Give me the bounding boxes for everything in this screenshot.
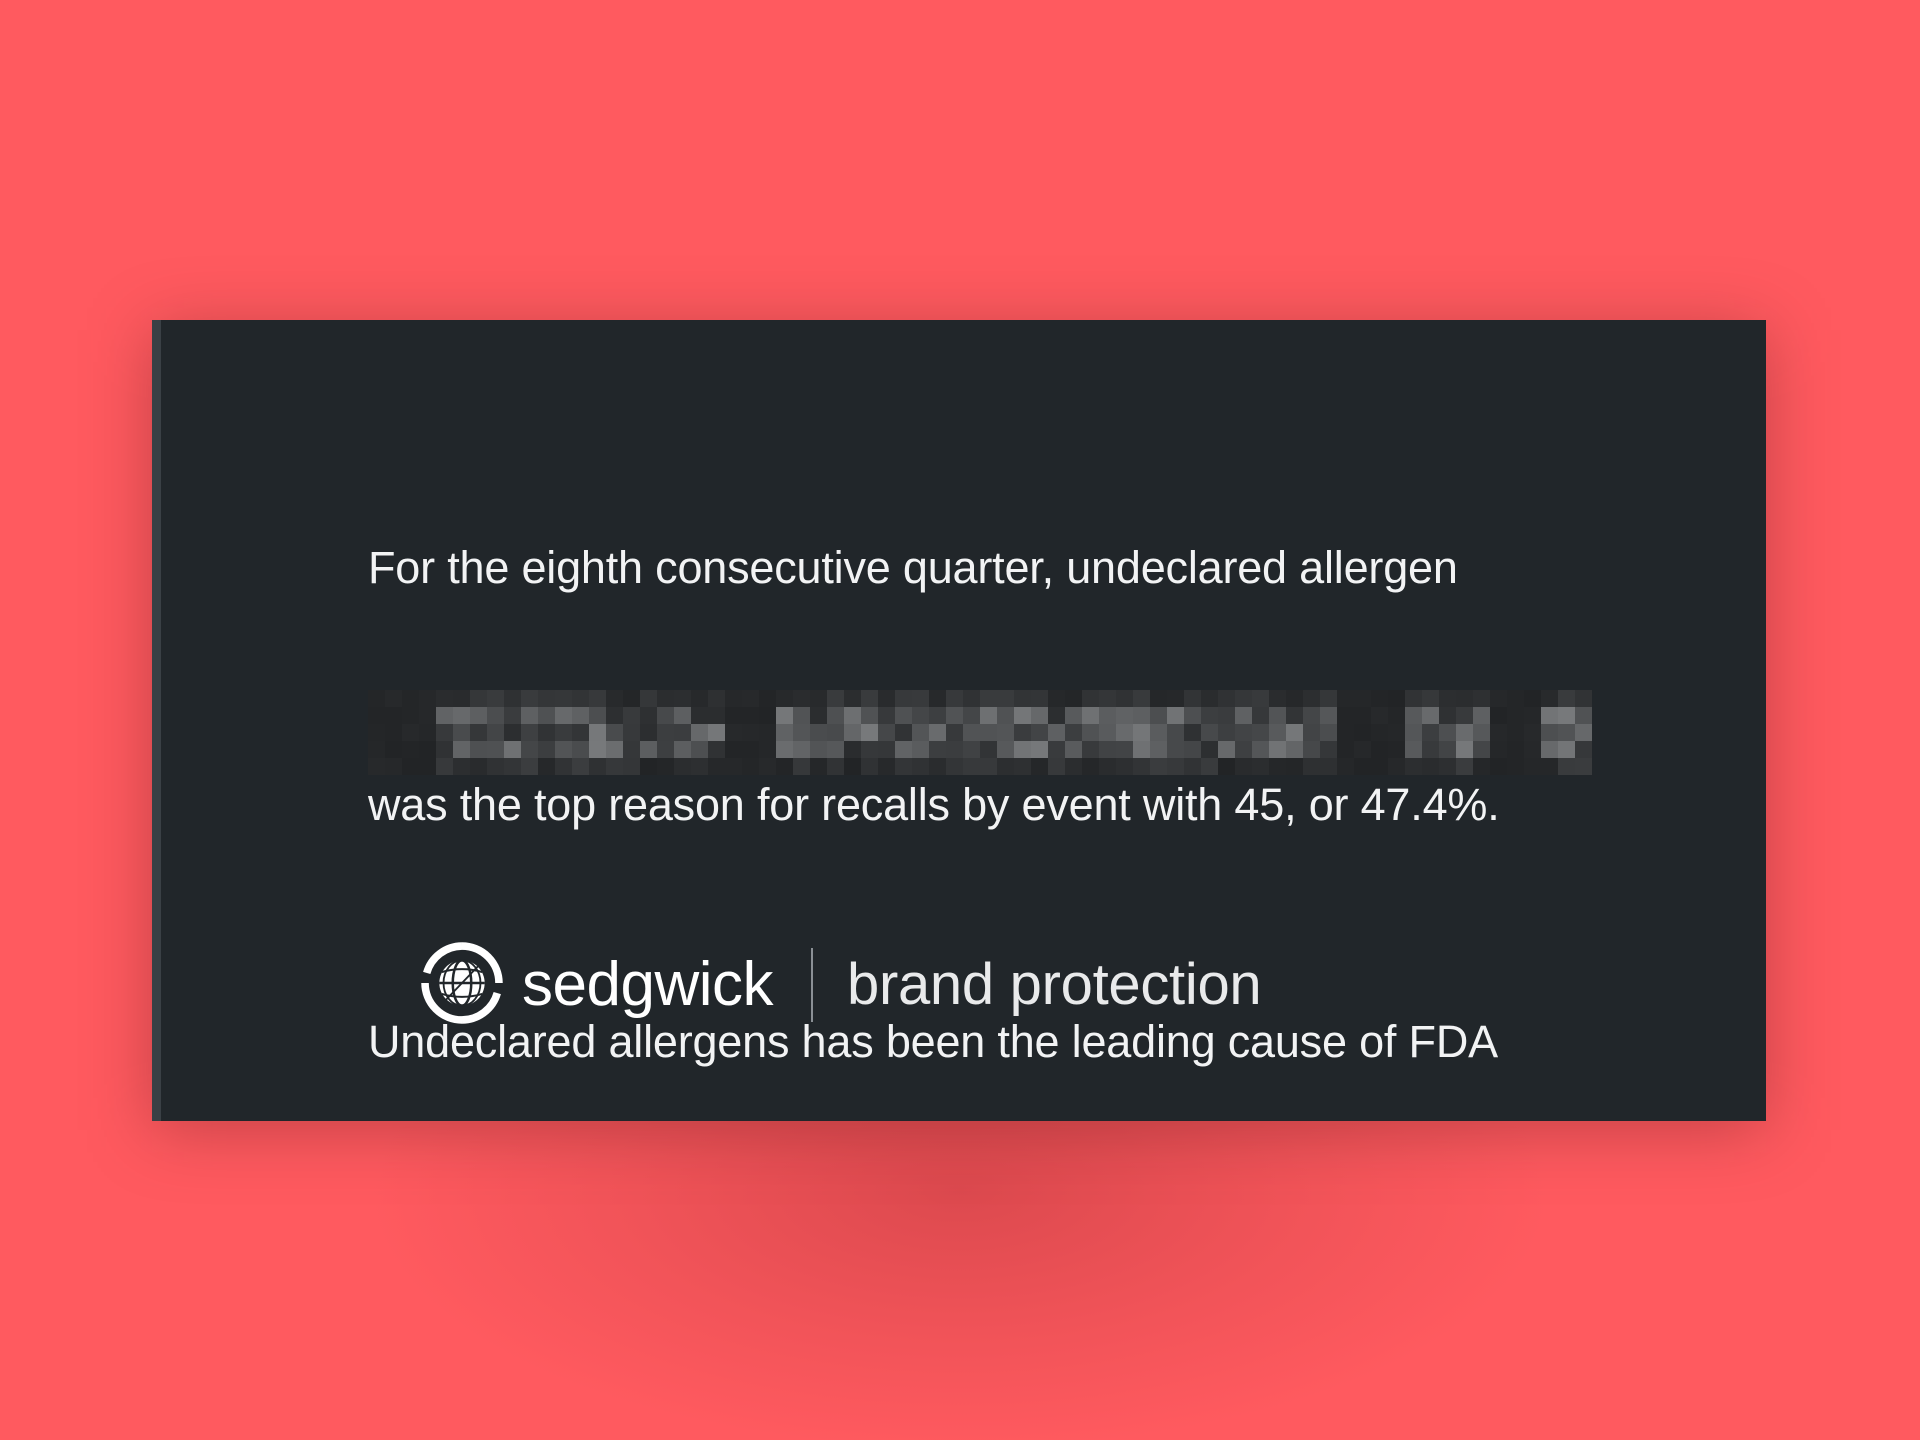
statement-card: For the eighth consecutive quarter, unde… — [152, 320, 1766, 1121]
statement-line-1: For the eighth consecutive quarter, unde… — [368, 528, 1698, 607]
logo-divider — [811, 948, 813, 1022]
logo-lockup: sedgwick brand protection — [420, 937, 1261, 1029]
brand-protection-tagline: brand protection — [847, 956, 1261, 1014]
statement-line-2: was the top reason for recalls by event … — [368, 765, 1698, 844]
sedgwick-wordmark: sedgwick — [522, 954, 773, 1016]
globe-icon — [420, 941, 504, 1025]
card-left-edge-strip — [152, 320, 161, 1121]
redacted-text-bar — [368, 690, 1590, 764]
